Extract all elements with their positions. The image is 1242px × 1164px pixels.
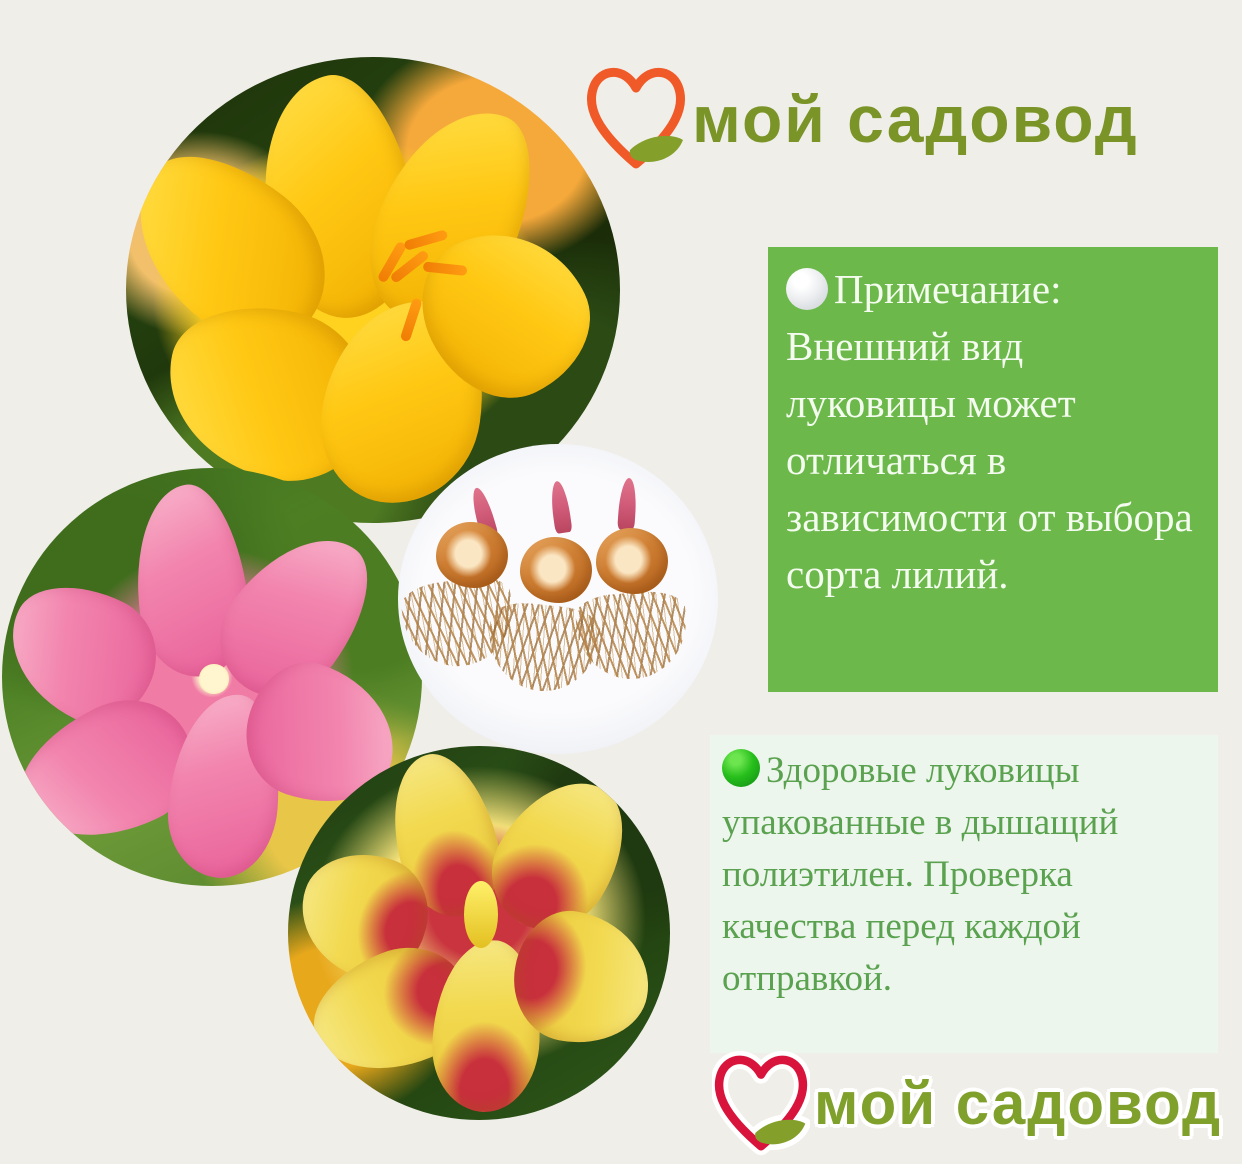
quality-text: Здоровые луковицы упакованные в дышащий … (722, 750, 1118, 999)
note-heading: Примечание: (834, 266, 1061, 312)
brand-name: мой садовод (692, 81, 1139, 157)
note-text: Внешний вид луковицы может отличаться в … (786, 323, 1193, 597)
brand-logo-bottom[interactable]: мой садовод (712, 1046, 1222, 1161)
note-box: Примечание: Внешний вид луковицы может о… (768, 247, 1218, 692)
quality-box: Здоровые луковицы упакованные в дышащий … (710, 735, 1218, 1053)
brand-logo-top[interactable]: мой садовод (584, 58, 1139, 179)
bulb (520, 537, 592, 603)
brand-name: мой садовод (814, 1069, 1222, 1138)
sprout (548, 480, 572, 534)
flower-center (464, 881, 498, 948)
bulb (596, 528, 668, 594)
quality-text-block: Здоровые луковицы упакованные в дышащий … (722, 745, 1204, 1005)
leaf-icon (630, 136, 683, 162)
photo-lily-bulbs (398, 444, 718, 754)
promo-canvas: мой садовод Примечание: Внешний вид луко… (0, 0, 1242, 1164)
note-text-block: Примечание: Внешний вид луковицы может о… (786, 261, 1202, 603)
white-sphere-bullet-icon (786, 268, 828, 310)
flower-center (199, 664, 228, 693)
green-sphere-bullet-icon (722, 749, 760, 787)
photo-bicolor-lily (288, 746, 670, 1120)
heart-leaf-mark (712, 1046, 810, 1161)
bulb (436, 522, 508, 588)
roots (574, 589, 690, 682)
sprout (617, 478, 638, 531)
heart-leaf-mark (584, 58, 688, 179)
